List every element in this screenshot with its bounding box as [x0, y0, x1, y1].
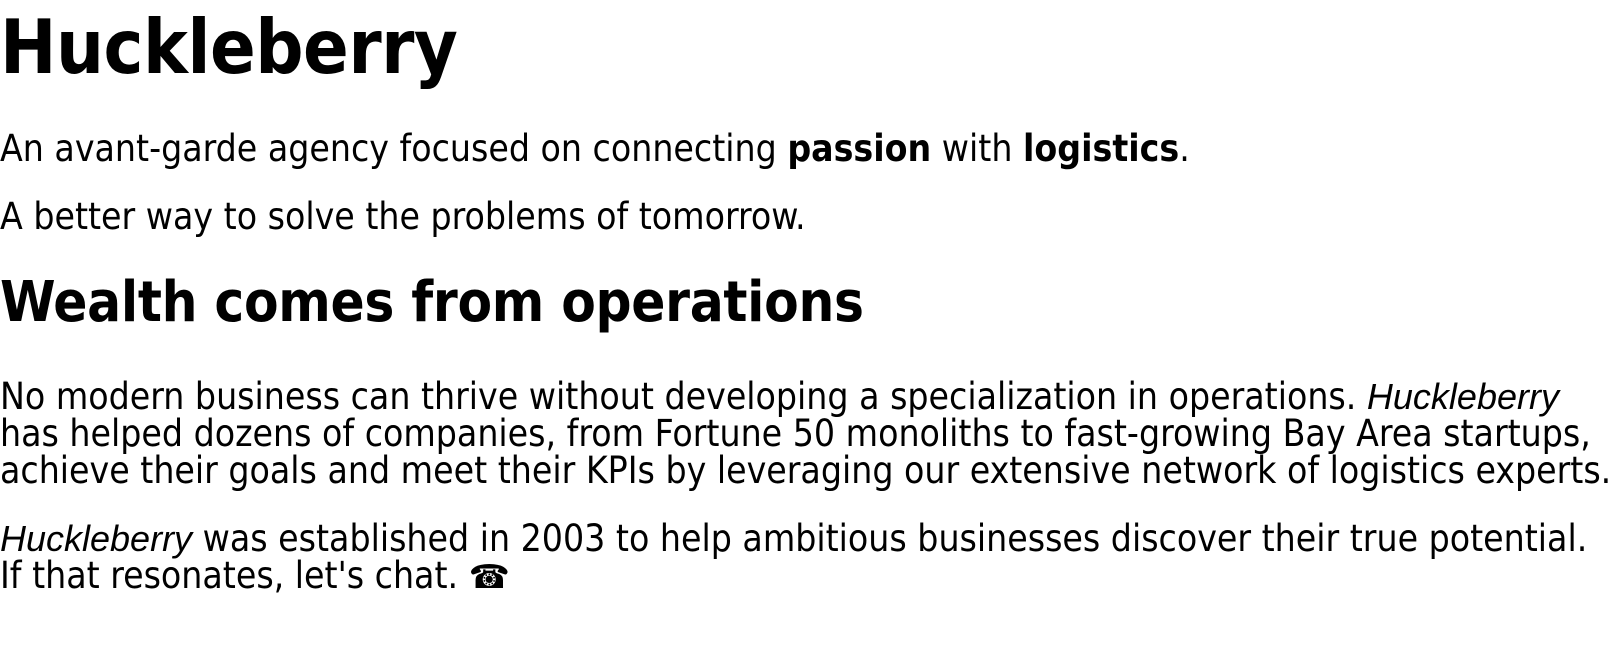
section-heading: Wealth comes from operations — [0, 235, 1616, 332]
telephone-icon: ☎ — [469, 557, 510, 596]
tagline-paragraph: An avant-garde agency focused on connect… — [0, 86, 1616, 167]
body-1-text-part-2: has helped dozens of companies, from For… — [0, 412, 1611, 492]
body-1-brand-italic: Huckleberry — [1367, 376, 1559, 417]
tagline-text-before-passion: An avant-garde agency focused on connect… — [0, 127, 787, 170]
tagline-emphasis-logistics: logistics — [1023, 127, 1179, 170]
tagline-text-after: . — [1179, 127, 1190, 170]
tagline-emphasis-passion: passion — [787, 127, 931, 170]
body-2-brand-italic: Huckleberry — [0, 518, 192, 559]
body-2-text-part-1: was established in 2003 to help ambitiou… — [0, 517, 1587, 597]
subtagline-paragraph: A better way to solve the problems of to… — [0, 167, 1616, 235]
body-paragraph-2: Huckleberry was established in 2003 to h… — [0, 489, 1616, 594]
page-title: Huckleberry — [0, 0, 1616, 86]
body-paragraph-1: No modern business can thrive without de… — [0, 332, 1616, 489]
document-page: Huckleberry An avant-garde agency focuse… — [0, 0, 1616, 594]
tagline-text-between: with — [931, 127, 1023, 170]
